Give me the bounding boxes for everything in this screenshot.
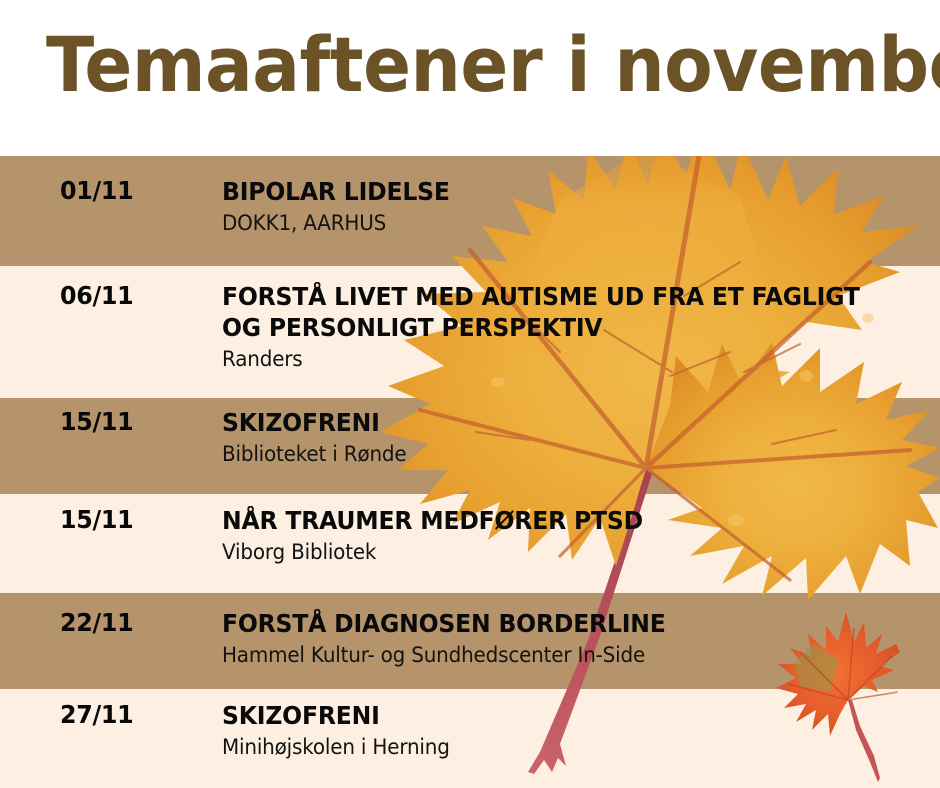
event-body: BIPOLAR LIDELSEDOKK1, AARHUS [222, 176, 922, 237]
event-title: SKIZOFRENI [222, 700, 880, 731]
event-title: SKIZOFRENI [222, 407, 880, 438]
title-band: Temaaftener i november [0, 0, 940, 156]
page-title: Temaaftener i november [46, 26, 940, 104]
event-date: 06/11 [60, 281, 193, 310]
event-title: NÅR TRAUMER MEDFØRER PTSD [222, 505, 880, 536]
event-venue: Biblioteket i Rønde [222, 441, 887, 468]
event-date: 15/11 [60, 505, 193, 534]
event-date: 01/11 [60, 176, 193, 205]
event-venue: Hammel Kultur- og Sundhedscenter In-Side [222, 642, 887, 669]
event-venue: Randers [222, 346, 887, 373]
event-body: FORSTÅ DIAGNOSEN BORDERLINEHammel Kultur… [222, 608, 922, 669]
event-body: SKIZOFRENIBiblioteket i Rønde [222, 407, 922, 468]
poster-canvas: Temaaftener i november 01/11BIPOLAR LIDE… [0, 0, 940, 788]
event-body: SKIZOFRENIMinihøjskolen i Herning [222, 700, 922, 761]
event-venue: DOKK1, AARHUS [222, 210, 887, 237]
event-body: FORSTÅ LIVET MED AUTISME UD FRA ET FAGLI… [222, 281, 922, 373]
event-body: NÅR TRAUMER MEDFØRER PTSDViborg Bibliote… [222, 505, 922, 566]
event-date: 27/11 [60, 700, 193, 729]
event-title: BIPOLAR LIDELSE [222, 176, 880, 207]
event-date: 22/11 [60, 608, 193, 637]
event-title: FORSTÅ LIVET MED AUTISME UD FRA ET FAGLI… [222, 281, 880, 343]
event-date: 15/11 [60, 407, 193, 436]
event-venue: Minihøjskolen i Herning [222, 734, 887, 761]
event-title: FORSTÅ DIAGNOSEN BORDERLINE [222, 608, 880, 639]
event-venue: Viborg Bibliotek [222, 539, 887, 566]
